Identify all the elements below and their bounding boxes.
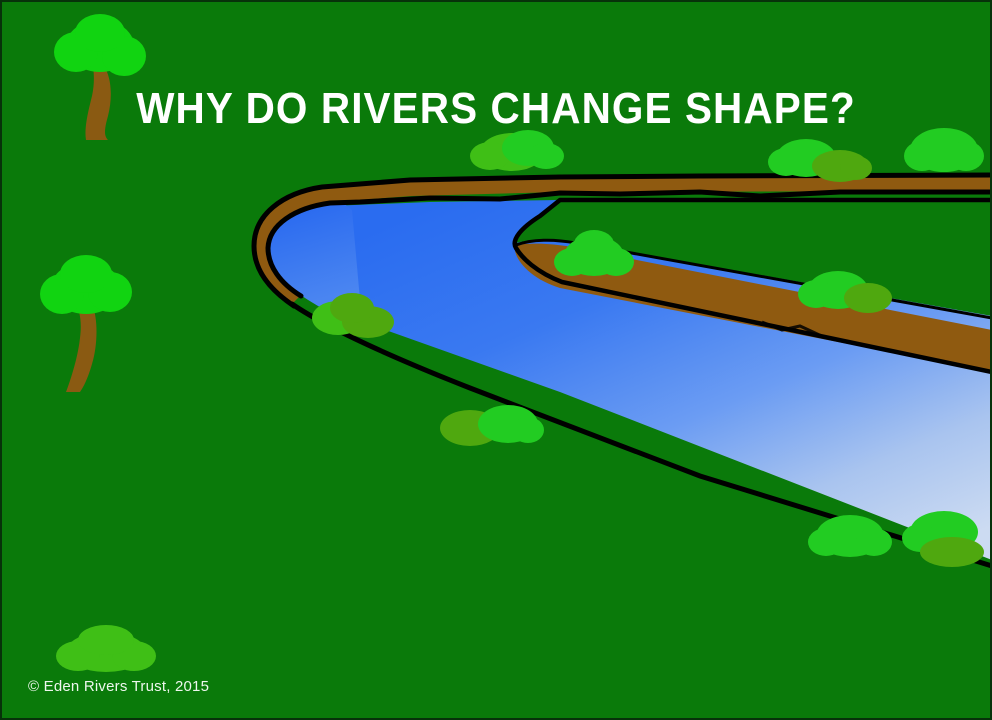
river-illustration (0, 0, 992, 720)
copyright-credit: © Eden Rivers Trust, 2015 (28, 678, 209, 695)
slide-canvas: WHY DO RIVERS CHANGE SHAPE? © Eden River… (0, 0, 992, 720)
